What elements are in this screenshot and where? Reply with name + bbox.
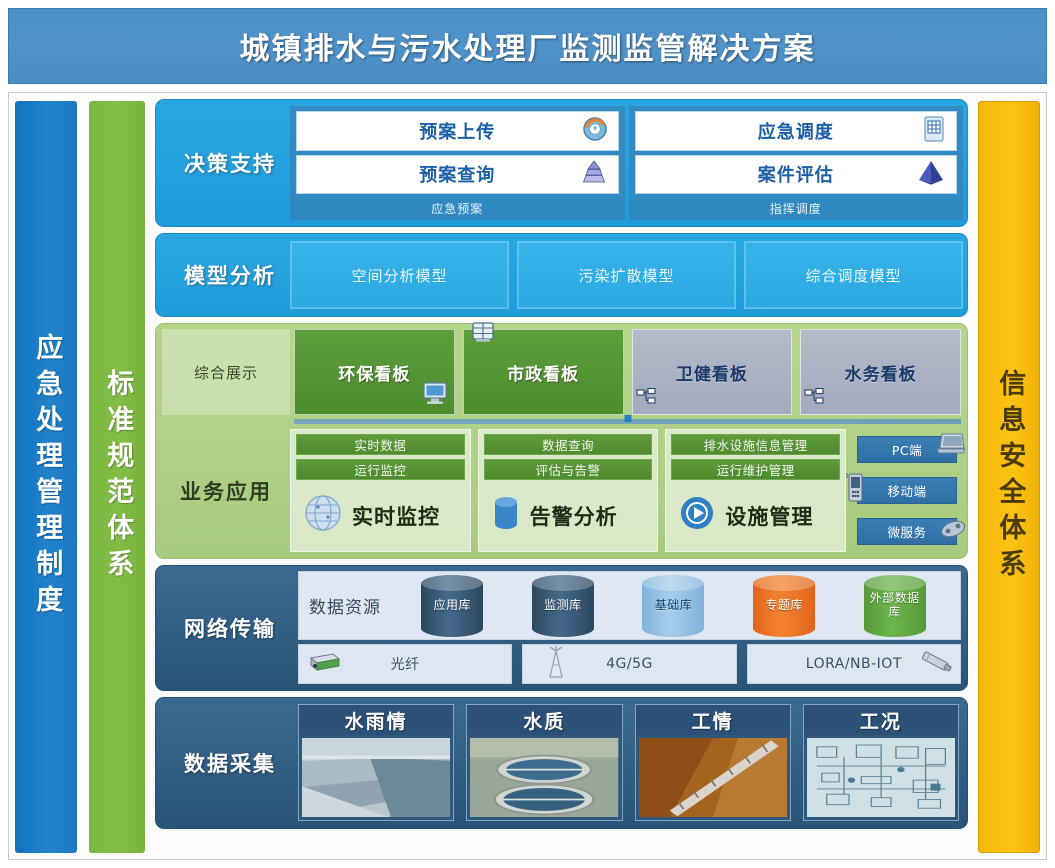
layer-decision-support: 决策支持 预案上传 (155, 99, 968, 227)
board-tile-municipal[interactable]: 市政看板 (463, 329, 624, 415)
endpoint-microservice-label: 微服务 (888, 522, 927, 541)
page-title: 城镇排水与污水处理厂监测监管解决方案 (240, 24, 816, 68)
business-feature-realtime-monitor-label: 实时监控 (352, 501, 440, 531)
business-feature-facility-management-label: 设施管理 (725, 501, 813, 531)
business-chip-operation-monitor[interactable]: 运行监控 (296, 459, 465, 480)
network-node-icon (803, 387, 825, 412)
data-cell-rainfall-label: 水雨情 (299, 705, 453, 735)
model-item-spatial[interactable]: 空间分析模型 (290, 241, 509, 309)
sedimentation-tanks-photo (470, 738, 618, 817)
decision-item-emergency-dispatch[interactable]: 应急调度 (635, 111, 958, 151)
business-feature-alarm-analysis[interactable]: 告警分析 (484, 484, 653, 547)
business-feature-alarm-analysis-label: 告警分析 (530, 501, 618, 531)
scada-diagram-photo (807, 738, 955, 817)
decision-group-emergency-plan-footer: 应急预案 (296, 198, 619, 218)
board-tile-water-affairs-label: 水务看板 (845, 360, 917, 385)
layer-model-analysis: 模型分析 空间分析模型 污染扩散模型 综合调度模型 (155, 233, 968, 317)
database-cylinder-icon (490, 493, 522, 538)
business-chip-data-query[interactable]: 数据查询 (484, 434, 653, 455)
business-application-label: 业务应用 (162, 429, 290, 552)
globe-icon (302, 492, 344, 539)
client-endpoints: PC端 移动端 (853, 429, 957, 552)
board-tile-health[interactable]: 卫健看板 (632, 329, 793, 415)
business-column-facility: 排水设施信息管理 运行维护管理 设施管理 (665, 429, 846, 552)
model-analysis-label: 模型分析 (156, 234, 304, 316)
pillar-emergency-label: 应急处理管理制度 (32, 333, 61, 621)
data-resources-panel: 数据资源 应用库 监测库 基础库 专题库 外部数据库 (298, 571, 961, 640)
grid-table-icon (922, 115, 946, 147)
layer-stack: 决策支持 预案上传 (155, 99, 968, 853)
decision-item-emergency-dispatch-label: 应急调度 (758, 118, 834, 144)
page-title-bar: 城镇排水与污水处理厂监测监管解决方案 (8, 8, 1047, 84)
pillar-emergency-management: 应急处理管理制度 (15, 101, 77, 853)
pillar-standards-label: 标准规范体系 (103, 369, 132, 585)
business-chip-operation-maintenance[interactable]: 运行维护管理 (671, 459, 840, 480)
network-link-lora[interactable]: LORA/NB-IOT (747, 644, 961, 684)
antenna-tower-icon (545, 645, 567, 683)
board-tile-environmental[interactable]: 环保看板 (294, 329, 455, 415)
decision-group-emergency-plan: 预案上传 预案查询 (290, 106, 625, 220)
endpoint-mobile-label: 移动端 (888, 481, 927, 500)
layer-data-acquisition: 数据采集 水雨情 (155, 697, 968, 829)
comprehensive-display-label: 综合展示 (162, 329, 290, 415)
business-divider (294, 419, 961, 424)
business-column-alarm: 数据查询 评估与告警 告警分析 (478, 429, 659, 552)
decision-item-plan-upload-label: 预案上传 (419, 118, 495, 144)
decision-item-plan-query-label: 预案查询 (419, 161, 495, 187)
data-cell-operating-condition-label: 工况 (804, 705, 958, 735)
business-chip-drainage-facility-info[interactable]: 排水设施信息管理 (671, 434, 840, 455)
pillar-information-security: 信息安全体系 (978, 101, 1040, 853)
endpoint-pc-label: PC端 (892, 440, 922, 459)
endpoint-microservice[interactable]: 微服务 (857, 518, 957, 545)
router-icon (307, 650, 341, 678)
data-cell-water-quality[interactable]: 水质 (466, 704, 622, 821)
decision-group-command-dispatch-footer: 指挥调度 (635, 198, 958, 218)
board-tile-environmental-label: 环保看板 (338, 360, 410, 385)
decision-item-case-assessment[interactable]: 案件评估 (635, 155, 958, 195)
database-external[interactable]: 外部数据库 (864, 575, 926, 637)
comprehensive-display-section: 综合展示 环保看板 (162, 329, 961, 415)
layer-business-application: 综合展示 环保看板 (155, 323, 968, 559)
endpoint-mobile[interactable]: 移动端 (857, 477, 957, 504)
window-icon (470, 320, 496, 349)
data-cell-rainfall[interactable]: 水雨情 (298, 704, 454, 821)
business-column-realtime: 实时数据 运行监控 (290, 429, 471, 552)
decision-item-case-assessment-label: 案件评估 (758, 161, 834, 187)
decision-support-label: 决策支持 (156, 100, 304, 226)
decision-item-plan-upload[interactable]: 预案上传 (296, 111, 619, 151)
database-monitoring[interactable]: 监测库 (532, 575, 594, 637)
business-chip-realtime-data[interactable]: 实时数据 (296, 434, 465, 455)
network-link-fiber-label: 光纤 (391, 654, 420, 674)
pillar-standards-system: 标准规范体系 (89, 101, 145, 853)
database-thematic[interactable]: 专题库 (753, 575, 815, 637)
data-cell-engineering-label: 工情 (636, 705, 790, 735)
architecture-diagram: 应急处理管理制度 标准规范体系 信息安全体系 决策支持 预案上传 (8, 92, 1047, 860)
decision-item-plan-query[interactable]: 预案查询 (296, 155, 619, 195)
service-device-icon (938, 515, 968, 544)
layer-network-transmission: 网络传输 数据资源 应用库 监测库 基础库 专题库 外部数据库 (155, 565, 968, 691)
network-node-icon (635, 387, 657, 412)
model-item-integrated-dispatch[interactable]: 综合调度模型 (744, 241, 963, 309)
data-acquisition-label: 数据采集 (156, 698, 304, 828)
board-tile-municipal-label: 市政看板 (507, 360, 579, 385)
monitor-icon (422, 381, 448, 410)
network-link-fiber[interactable]: 光纤 (298, 644, 512, 684)
network-link-lora-label: LORA/NB-IOT (806, 656, 902, 672)
database-application[interactable]: 应用库 (421, 575, 483, 637)
sensor-device-icon (918, 649, 956, 679)
business-chip-assessment-alarm[interactable]: 评估与告警 (484, 459, 653, 480)
business-feature-realtime-monitor[interactable]: 实时监控 (296, 484, 465, 547)
recycle-circle-icon (582, 116, 608, 146)
laptop-icon (934, 431, 966, 460)
model-item-pollution-diffusion[interactable]: 污染扩散模型 (517, 241, 736, 309)
board-tile-health-label: 卫健看板 (676, 360, 748, 385)
solid-pyramid-icon (916, 159, 946, 189)
business-feature-facility-management[interactable]: 设施管理 (671, 484, 840, 547)
decision-group-command-dispatch: 应急调度 案件评 (629, 106, 964, 220)
pillar-security-label: 信息安全体系 (995, 369, 1024, 585)
canal-embankment-photo (302, 738, 450, 817)
buried-pipeline-photo (639, 738, 787, 817)
board-tile-water-affairs[interactable]: 水务看板 (800, 329, 961, 415)
network-link-cellular[interactable]: 4G/5G (522, 644, 736, 684)
database-foundation[interactable]: 基础库 (642, 575, 704, 637)
mobile-phone-icon (844, 472, 866, 507)
network-link-cellular-label: 4G/5G (606, 656, 653, 672)
data-cell-water-quality-label: 水质 (467, 705, 621, 735)
endpoint-pc[interactable]: PC端 (857, 436, 957, 463)
data-cell-engineering[interactable]: 工情 (635, 704, 791, 821)
network-transmission-label: 网络传输 (156, 566, 304, 690)
play-circle-icon (677, 493, 717, 538)
layered-pyramid-icon (580, 159, 608, 189)
data-resources-label: 数据资源 (309, 593, 381, 618)
data-cell-operating-condition[interactable]: 工况 (803, 704, 959, 821)
